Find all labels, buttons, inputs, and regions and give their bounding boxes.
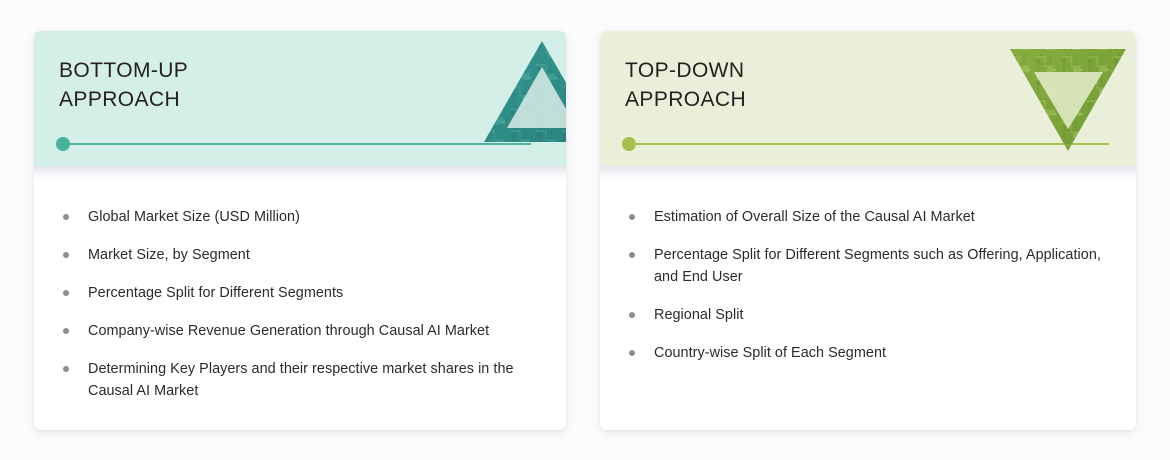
list-item: Company-wise Revenue Generation through … <box>60 320 540 342</box>
list-item-label: Percentage Split for Different Segments … <box>654 247 1101 285</box>
bullet-dot-icon <box>629 214 635 220</box>
page-title-top-down: TOP-DOWN APPROACH <box>625 56 746 114</box>
list-item-label: Country-wise Split of Each Segment <box>654 345 886 361</box>
list-item-label: Estimation of Overall Size of the Causal… <box>654 209 975 225</box>
list-item-label: Company-wise Revenue Generation through … <box>88 323 489 339</box>
card-header-top-down: TOP-DOWN APPROACH <box>600 31 1136 166</box>
bullet-dot-icon <box>63 328 69 334</box>
list-item: Determining Key Players and their respec… <box>60 358 540 402</box>
bullet-dot-icon <box>629 312 635 318</box>
list-item-label: Determining Key Players and their respec… <box>88 361 514 399</box>
accent-dot-bottom-up <box>56 137 70 151</box>
triangle-up-icon <box>483 39 566 144</box>
triangle-down-icon <box>1008 31 1128 155</box>
card-body-bottom-up: Global Market Size (USD Million) Market … <box>34 180 566 402</box>
list-item: Global Market Size (USD Million) <box>60 206 540 228</box>
approach-comparison-diagram: BOTTOM-UP APPROACH <box>0 0 1170 460</box>
list-item: Market Size, by Segment <box>60 244 540 266</box>
list-item-label: Global Market Size (USD Million) <box>88 209 300 225</box>
list-item: Estimation of Overall Size of the Causal… <box>626 206 1110 228</box>
approach-card-top-down: TOP-DOWN APPROACH <box>600 31 1136 430</box>
bullet-list-bottom-up: Global Market Size (USD Million) Market … <box>60 206 540 402</box>
bullet-dot-icon <box>63 366 69 372</box>
list-item: Country-wise Split of Each Segment <box>626 342 1110 364</box>
list-item: Percentage Split for Different Segments <box>60 282 540 304</box>
list-item: Percentage Split for Different Segments … <box>626 244 1110 288</box>
list-item-label: Regional Split <box>654 307 744 323</box>
page-title-bottom-up: BOTTOM-UP APPROACH <box>59 56 188 114</box>
card-body-top-down: Estimation of Overall Size of the Causal… <box>600 180 1136 364</box>
bullet-list-top-down: Estimation of Overall Size of the Causal… <box>626 206 1110 364</box>
accent-rule-bottom-up <box>59 143 531 145</box>
bullet-dot-icon <box>63 252 69 258</box>
bullet-dot-icon <box>629 252 635 258</box>
bullet-dot-icon <box>63 290 69 296</box>
accent-dot-top-down <box>622 137 636 151</box>
list-item-label: Percentage Split for Different Segments <box>88 285 343 301</box>
bullet-dot-icon <box>629 350 635 356</box>
header-divider-shadow-left <box>34 166 566 180</box>
header-divider-shadow-right <box>600 166 1136 180</box>
list-item: Regional Split <box>626 304 1110 326</box>
approach-card-bottom-up: BOTTOM-UP APPROACH <box>34 31 566 430</box>
bullet-dot-icon <box>63 214 69 220</box>
list-item-label: Market Size, by Segment <box>88 247 250 263</box>
card-header-bottom-up: BOTTOM-UP APPROACH <box>34 31 566 166</box>
